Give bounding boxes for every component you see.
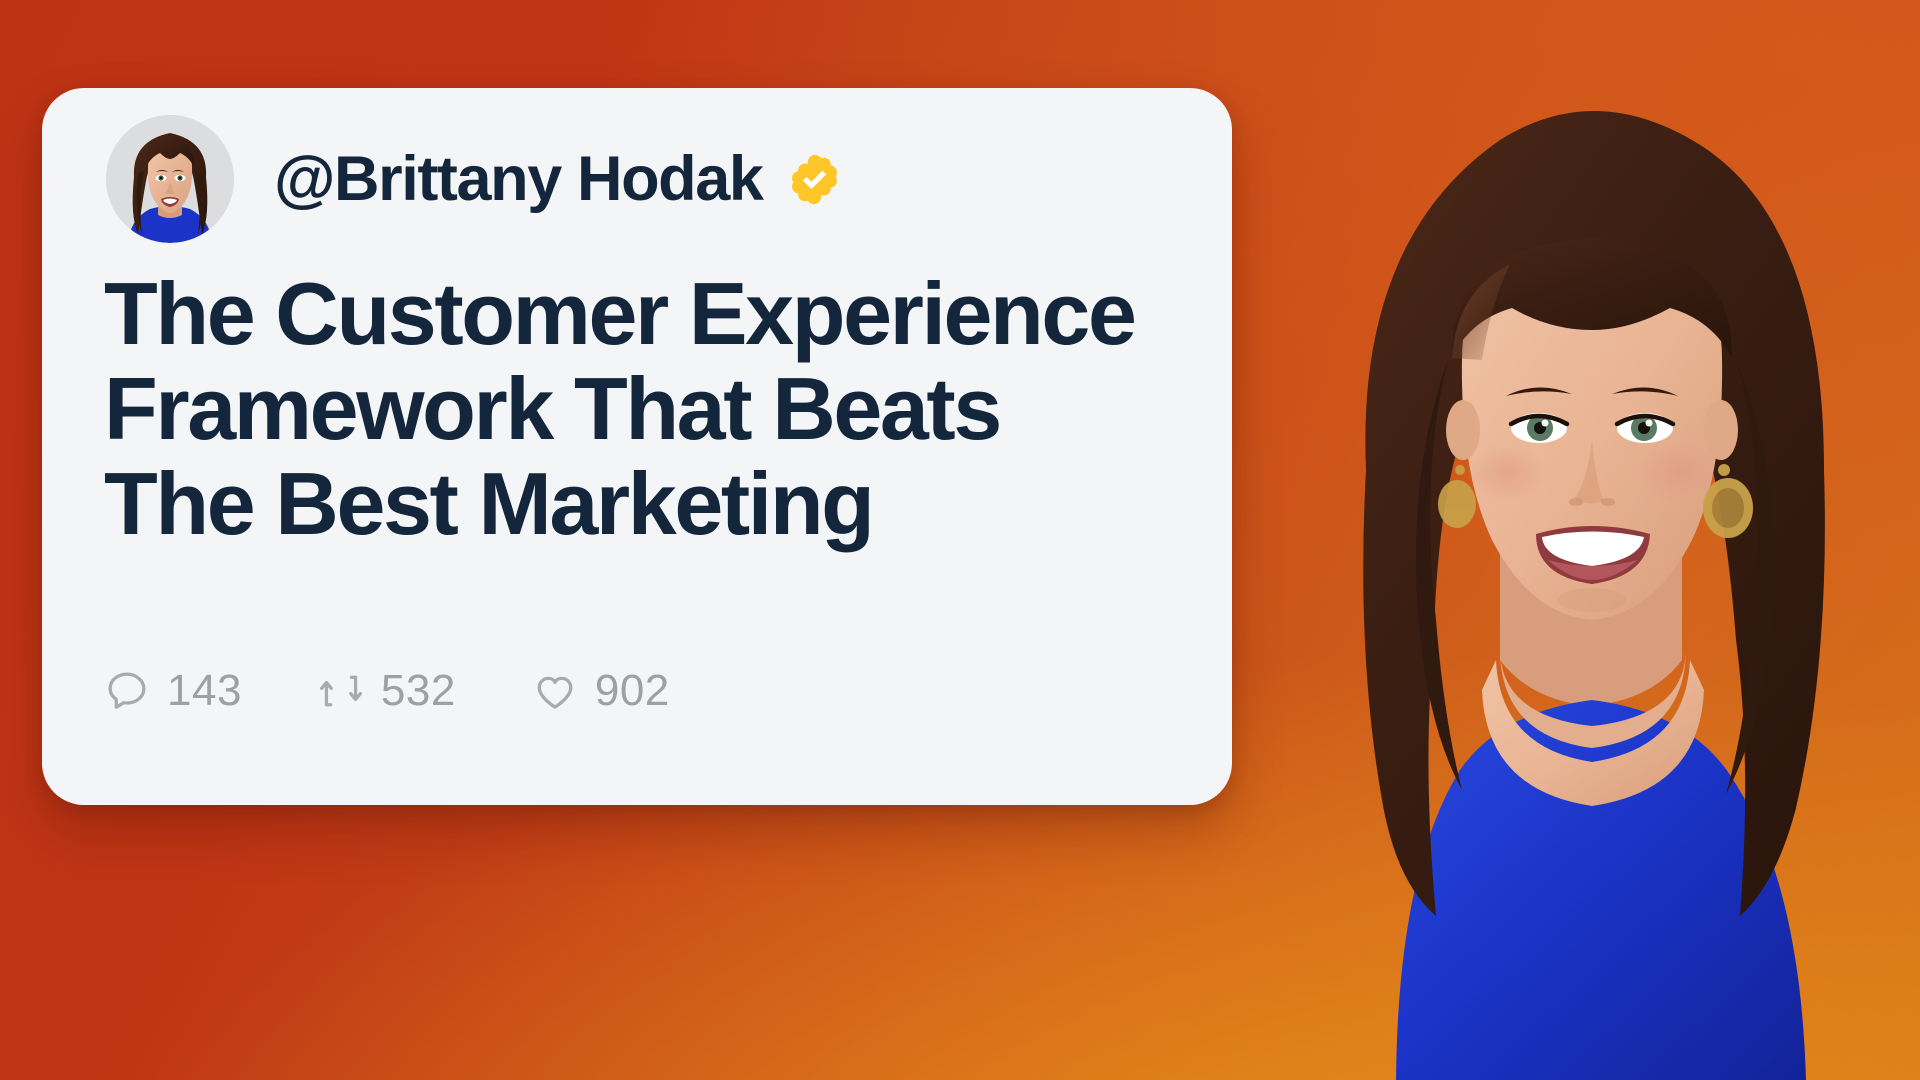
headline-emphasis-marketing: The Best Marketing	[104, 456, 873, 551]
headline-emphasis-beats: Beats	[772, 361, 1000, 456]
retweet-icon	[318, 668, 364, 714]
tweet-handle[interactable]: @Brittany Hodak	[274, 143, 763, 215]
portrait-photo	[1200, 0, 1920, 1080]
headline-line-3-marked: The Best Marketing	[104, 454, 873, 553]
headline-line-2-plain: Framework That	[104, 359, 772, 458]
headline-line-2: Framework That Beats	[104, 361, 1194, 456]
tweet-header: @Brittany Hodak	[106, 115, 842, 243]
tweet-headline: The Customer Experience Framework That B…	[104, 266, 1194, 551]
avatar[interactable]	[106, 115, 234, 243]
promo-graphic: @Brittany Hodak The Customer Experience …	[0, 0, 1920, 1080]
headline-line-2-marked: Beats	[772, 359, 1000, 458]
reply-icon	[104, 668, 150, 714]
tweet-card: @Brittany Hodak The Customer Experience …	[42, 88, 1232, 805]
stat-replies-value: 143	[167, 666, 242, 716]
headline-line-1: The Customer Experience	[104, 266, 1194, 361]
stat-likes[interactable]: 902	[532, 666, 670, 716]
verified-badge-icon	[787, 152, 842, 207]
headline-line-3: The Best Marketing	[104, 456, 1194, 551]
tweet-stats: 143 532 902	[104, 666, 670, 716]
stat-likes-value: 902	[595, 666, 670, 716]
like-heart-icon	[532, 668, 578, 714]
stat-retweets[interactable]: 532	[318, 666, 456, 716]
stat-replies[interactable]: 143	[104, 666, 242, 716]
stat-retweets-value: 532	[381, 666, 456, 716]
